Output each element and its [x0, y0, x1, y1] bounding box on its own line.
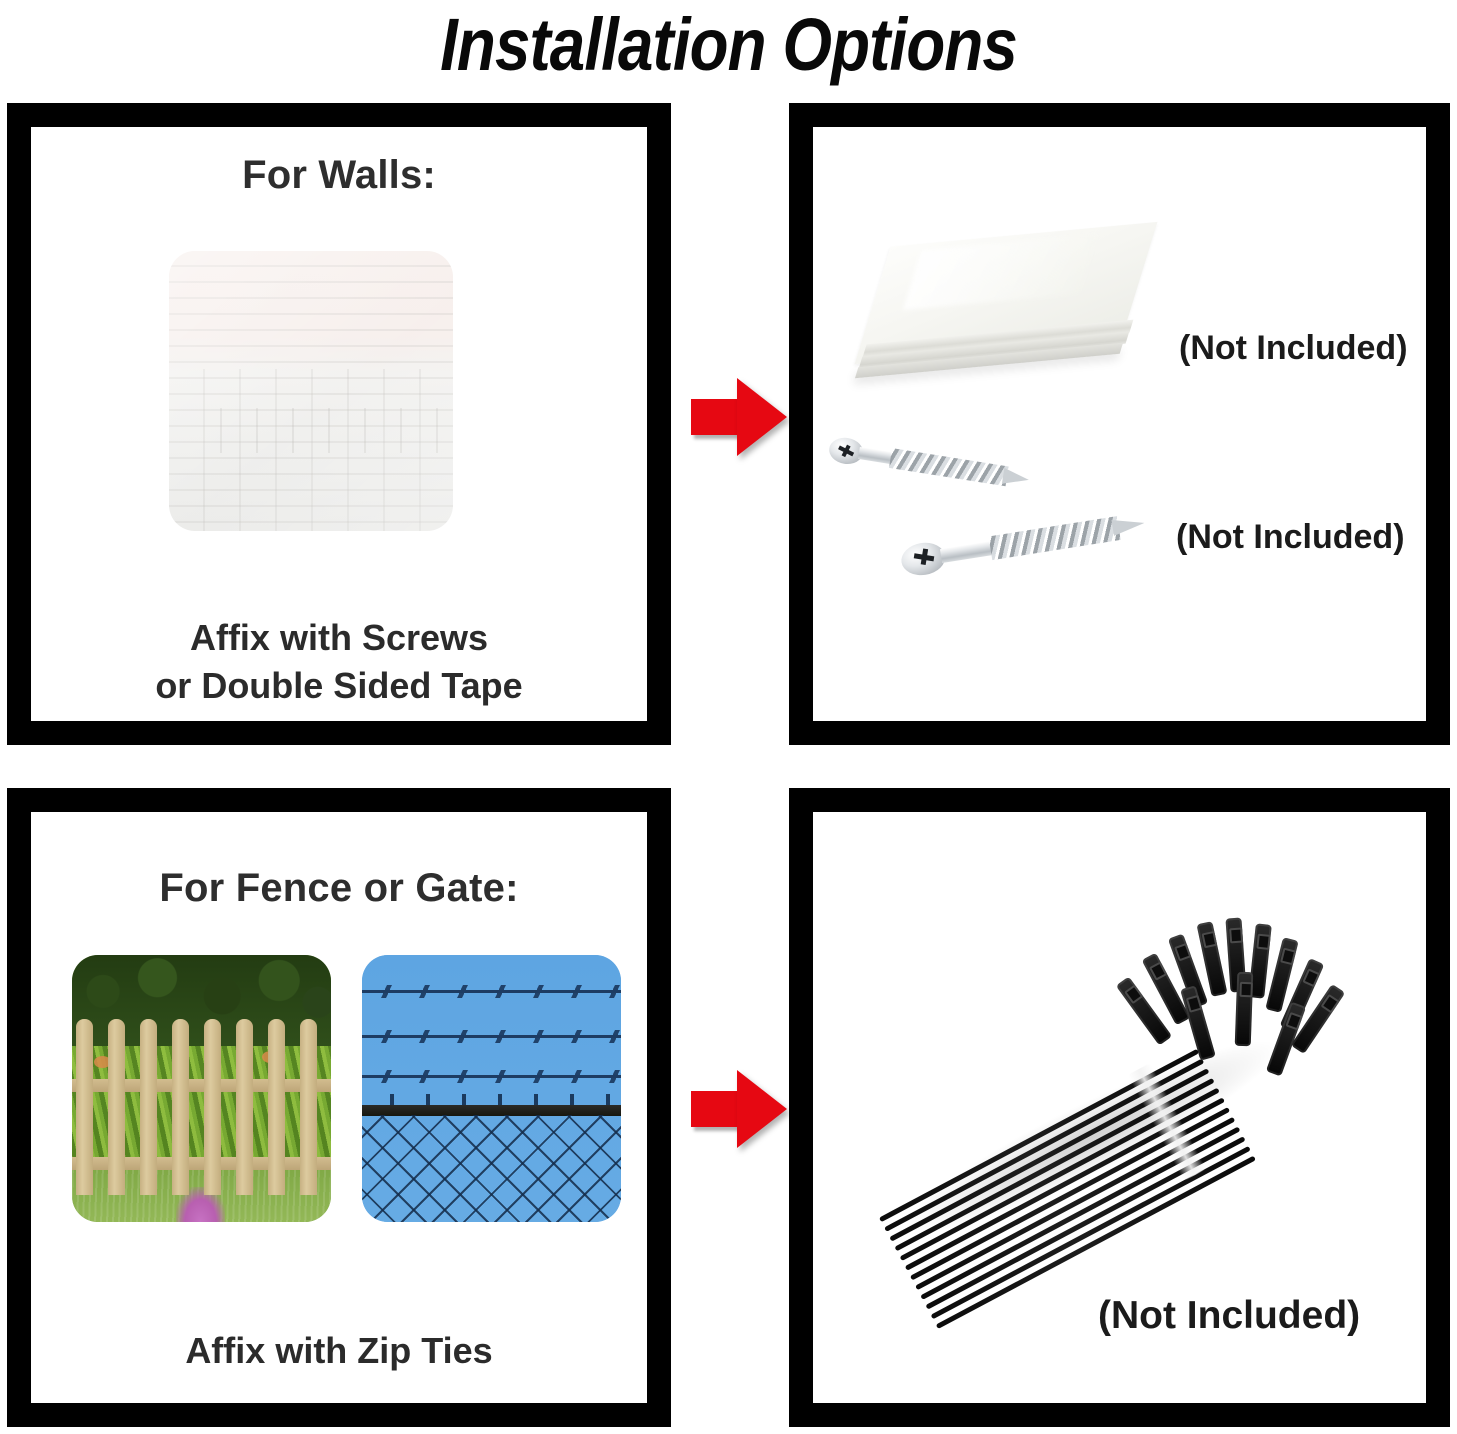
panel-wall-hardware: [789, 103, 1450, 745]
for-walls-heading: For Walls:: [31, 153, 647, 198]
for-fence-caption: Affix with Zip Ties: [31, 1327, 647, 1375]
chain-link-fence-photo: [362, 955, 621, 1222]
for-walls-caption-line-2: or Double Sided Tape: [31, 662, 647, 710]
screw-shank: [940, 541, 996, 563]
panel-wall-hardware-content: [813, 127, 1426, 721]
picket: [300, 1019, 317, 1195]
phillips-cross-icon: [837, 444, 855, 458]
zip-tie-heads: [1132, 912, 1362, 1112]
arrow-head: [737, 378, 787, 456]
panel-for-walls: For Walls: Affix with Screws or Double S…: [7, 103, 671, 745]
picket: [268, 1019, 285, 1195]
screw-shank: [858, 447, 893, 464]
zip-tie-head: [1235, 972, 1254, 1047]
wooden-picket-fence-photo: [72, 955, 331, 1222]
black-zip-tie-bundle-photo: [862, 912, 1362, 1302]
double-sided-tape-stack-photo: [855, 228, 1155, 403]
not-included-label-screws: (Not Included): [1176, 518, 1405, 557]
picket: [76, 1019, 93, 1195]
picket: [140, 1019, 157, 1195]
picket: [108, 1019, 125, 1195]
barbed-wire-3: [362, 1075, 621, 1078]
red-right-arrow-icon-walls: [691, 378, 787, 456]
chain-link-mesh: [362, 1115, 621, 1222]
not-included-label-zip-ties: (Not Included): [1098, 1294, 1360, 1338]
arrow-head: [737, 1070, 787, 1148]
picket: [236, 1019, 253, 1195]
not-included-label-tape: (Not Included): [1179, 329, 1408, 368]
picket: [172, 1019, 189, 1195]
red-right-arrow-icon-fence: [691, 1070, 787, 1148]
screw-tip: [1111, 515, 1145, 536]
panel-for-walls-content: For Walls: Affix with Screws or Double S…: [31, 127, 647, 721]
zip-tie-head: [1180, 985, 1216, 1061]
white-brick-wall-photo: [169, 251, 453, 531]
for-walls-caption: Affix with Screws or Double Sided Tape: [31, 614, 647, 710]
fence-top-rail: [362, 1105, 621, 1116]
phillips-cross-icon: [913, 547, 935, 566]
page-title: Installation Options: [102, 0, 1355, 90]
barbed-wire-1: [362, 990, 621, 993]
screw-tip: [1002, 468, 1030, 488]
picket: [204, 1019, 221, 1195]
photo-highlight: [169, 251, 453, 531]
barbed-wire-2: [362, 1035, 621, 1038]
for-fence-heading: For Fence or Gate:: [31, 866, 647, 911]
picket-fence-boards: [72, 1019, 331, 1195]
for-walls-caption-line-1: Affix with Screws: [31, 614, 647, 662]
